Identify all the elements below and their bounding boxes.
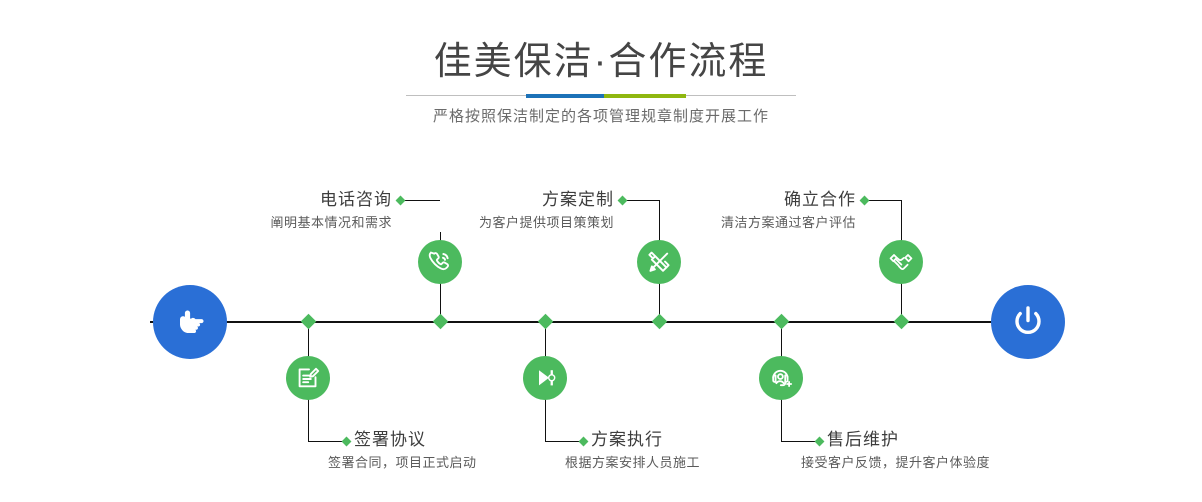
step-label-3: 方案定制 为客户提供项目策策划 (400, 188, 614, 234)
step-label-6: 售后维护 接受客户反馈，提升客户体验度 (827, 428, 1087, 474)
step-label-2: 签署协议 签署合同，项目正式启动 (354, 428, 594, 474)
timeline-end-cap (991, 285, 1065, 359)
step-desc-3: 为客户提供项目策策划 (400, 212, 614, 234)
power-icon (1007, 301, 1049, 343)
title-divider (406, 94, 796, 98)
leader-dot-5 (860, 196, 870, 206)
step-title-1: 电话咨询 (180, 188, 392, 212)
timeline-marker-3 (652, 314, 668, 330)
step-title-5: 确立合作 (640, 188, 856, 212)
leader-dot-2 (342, 437, 352, 447)
phone-call-icon (427, 249, 453, 275)
play-skip-icon (532, 365, 558, 391)
step-node-2[interactable] (286, 356, 330, 400)
cooperation-process-infographic: 佳美保洁·合作流程 严格按照保洁制定的各项管理规章制度开展工作 (0, 0, 1202, 502)
step-label-5: 确立合作 清洁方案通过客户评估 (640, 188, 856, 234)
customer-service-add-icon (768, 365, 794, 391)
step-desc-5: 清洁方案通过客户评估 (640, 212, 856, 234)
step-desc-2: 签署合同，项目正式启动 (328, 452, 594, 474)
pencil-ruler-icon (646, 249, 672, 275)
step-title-6: 售后维护 (827, 428, 1087, 452)
step-node-3[interactable] (637, 240, 681, 284)
timeline-marker-5 (894, 314, 910, 330)
step-desc-6: 接受客户反馈，提升客户体验度 (801, 452, 1087, 474)
step-label-4: 方案执行 根据方案安排人员施工 (591, 428, 831, 474)
timeline-marker-2 (301, 314, 317, 330)
timeline-marker-6 (774, 314, 790, 330)
step-title-3: 方案定制 (400, 188, 614, 212)
timeline-axis (150, 321, 1050, 323)
timeline-start-cap (153, 285, 227, 359)
leader-dot-3 (618, 196, 628, 206)
timeline-marker-1 (433, 314, 449, 330)
step-desc-1: 阐明基本情况和需求 (180, 212, 392, 234)
step-node-1[interactable] (418, 240, 462, 284)
page-title: 佳美保洁·合作流程 (0, 38, 1202, 86)
step-node-5[interactable] (879, 240, 923, 284)
step-desc-4: 根据方案安排人员施工 (565, 452, 831, 474)
step-node-6[interactable] (759, 356, 803, 400)
divider-segment-blue (526, 94, 604, 98)
pointing-hand-icon (170, 302, 210, 342)
step-title-2: 签署协议 (354, 428, 594, 452)
divider-segment-green (604, 94, 686, 98)
page-subtitle: 严格按照保洁制定的各项管理规章制度开展工作 (0, 105, 1202, 129)
step-title-4: 方案执行 (591, 428, 831, 452)
step-label-1: 电话咨询 阐明基本情况和需求 (180, 188, 392, 234)
step-node-4[interactable] (523, 356, 567, 400)
document-edit-icon (295, 365, 321, 391)
handshake-icon (888, 249, 914, 275)
timeline-marker-4 (538, 314, 554, 330)
